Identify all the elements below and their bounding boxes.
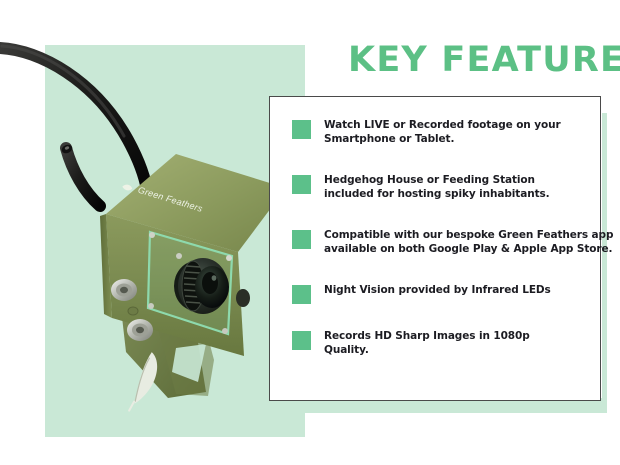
- body-screw-left: [176, 253, 182, 259]
- feature-item-0: Watch LIVE or Recorded footage on your S…: [292, 119, 561, 146]
- lens-highlight: [212, 275, 217, 281]
- cable-highlight: [2, 46, 124, 136]
- feature-item-4: Records HD Sharp Images in 1080p Quality…: [292, 330, 530, 357]
- feature-text-3: Night Vision provided by Infrared LEDs: [324, 284, 551, 298]
- infographic-canvas: Green Feathers KEY FEATU: [0, 0, 620, 465]
- feature-text-4: Records HD Sharp Images in 1080p Quality…: [324, 330, 530, 357]
- bullet-square-icon: [292, 285, 311, 304]
- features-panel: Watch LIVE or Recorded footage on your S…: [269, 96, 601, 401]
- bracket-thumbscrew-top: [111, 279, 137, 301]
- camera-illustration: Green Feathers: [0, 0, 310, 465]
- feature-item-3: Night Vision provided by Infrared LEDs: [292, 284, 551, 304]
- bracket-thumbscrew-bottom: [127, 319, 153, 341]
- bullet-square-icon: [292, 120, 311, 139]
- bracket-hole: [128, 307, 138, 315]
- product-image: Green Feathers: [0, 0, 310, 465]
- feature-text-2: Compatible with our bespoke Green Feathe…: [324, 229, 613, 256]
- faceplate-screw-br: [222, 328, 228, 334]
- feature-item-2: Compatible with our bespoke Green Feathe…: [292, 229, 613, 256]
- bullet-square-icon: [292, 175, 311, 194]
- faceplate-screw-bl: [148, 303, 154, 309]
- page-title: KEY FEATURES: [348, 40, 620, 80]
- feature-text-0: Watch LIVE or Recorded footage on your S…: [324, 119, 561, 146]
- faceplate-screw-tr: [226, 255, 232, 261]
- lens-aperture: [202, 272, 218, 294]
- ir-sensor: [236, 289, 250, 307]
- bullet-square-icon: [292, 230, 311, 249]
- faceplate-screw-tl: [149, 232, 155, 238]
- bullet-square-icon: [292, 331, 311, 350]
- feature-text-1: Hedgehog House or Feeding Station includ…: [324, 174, 550, 201]
- mint-accent-strip-right: [602, 113, 607, 405]
- camera-antenna: [66, 148, 100, 206]
- feature-item-1: Hedgehog House or Feeding Station includ…: [292, 174, 550, 201]
